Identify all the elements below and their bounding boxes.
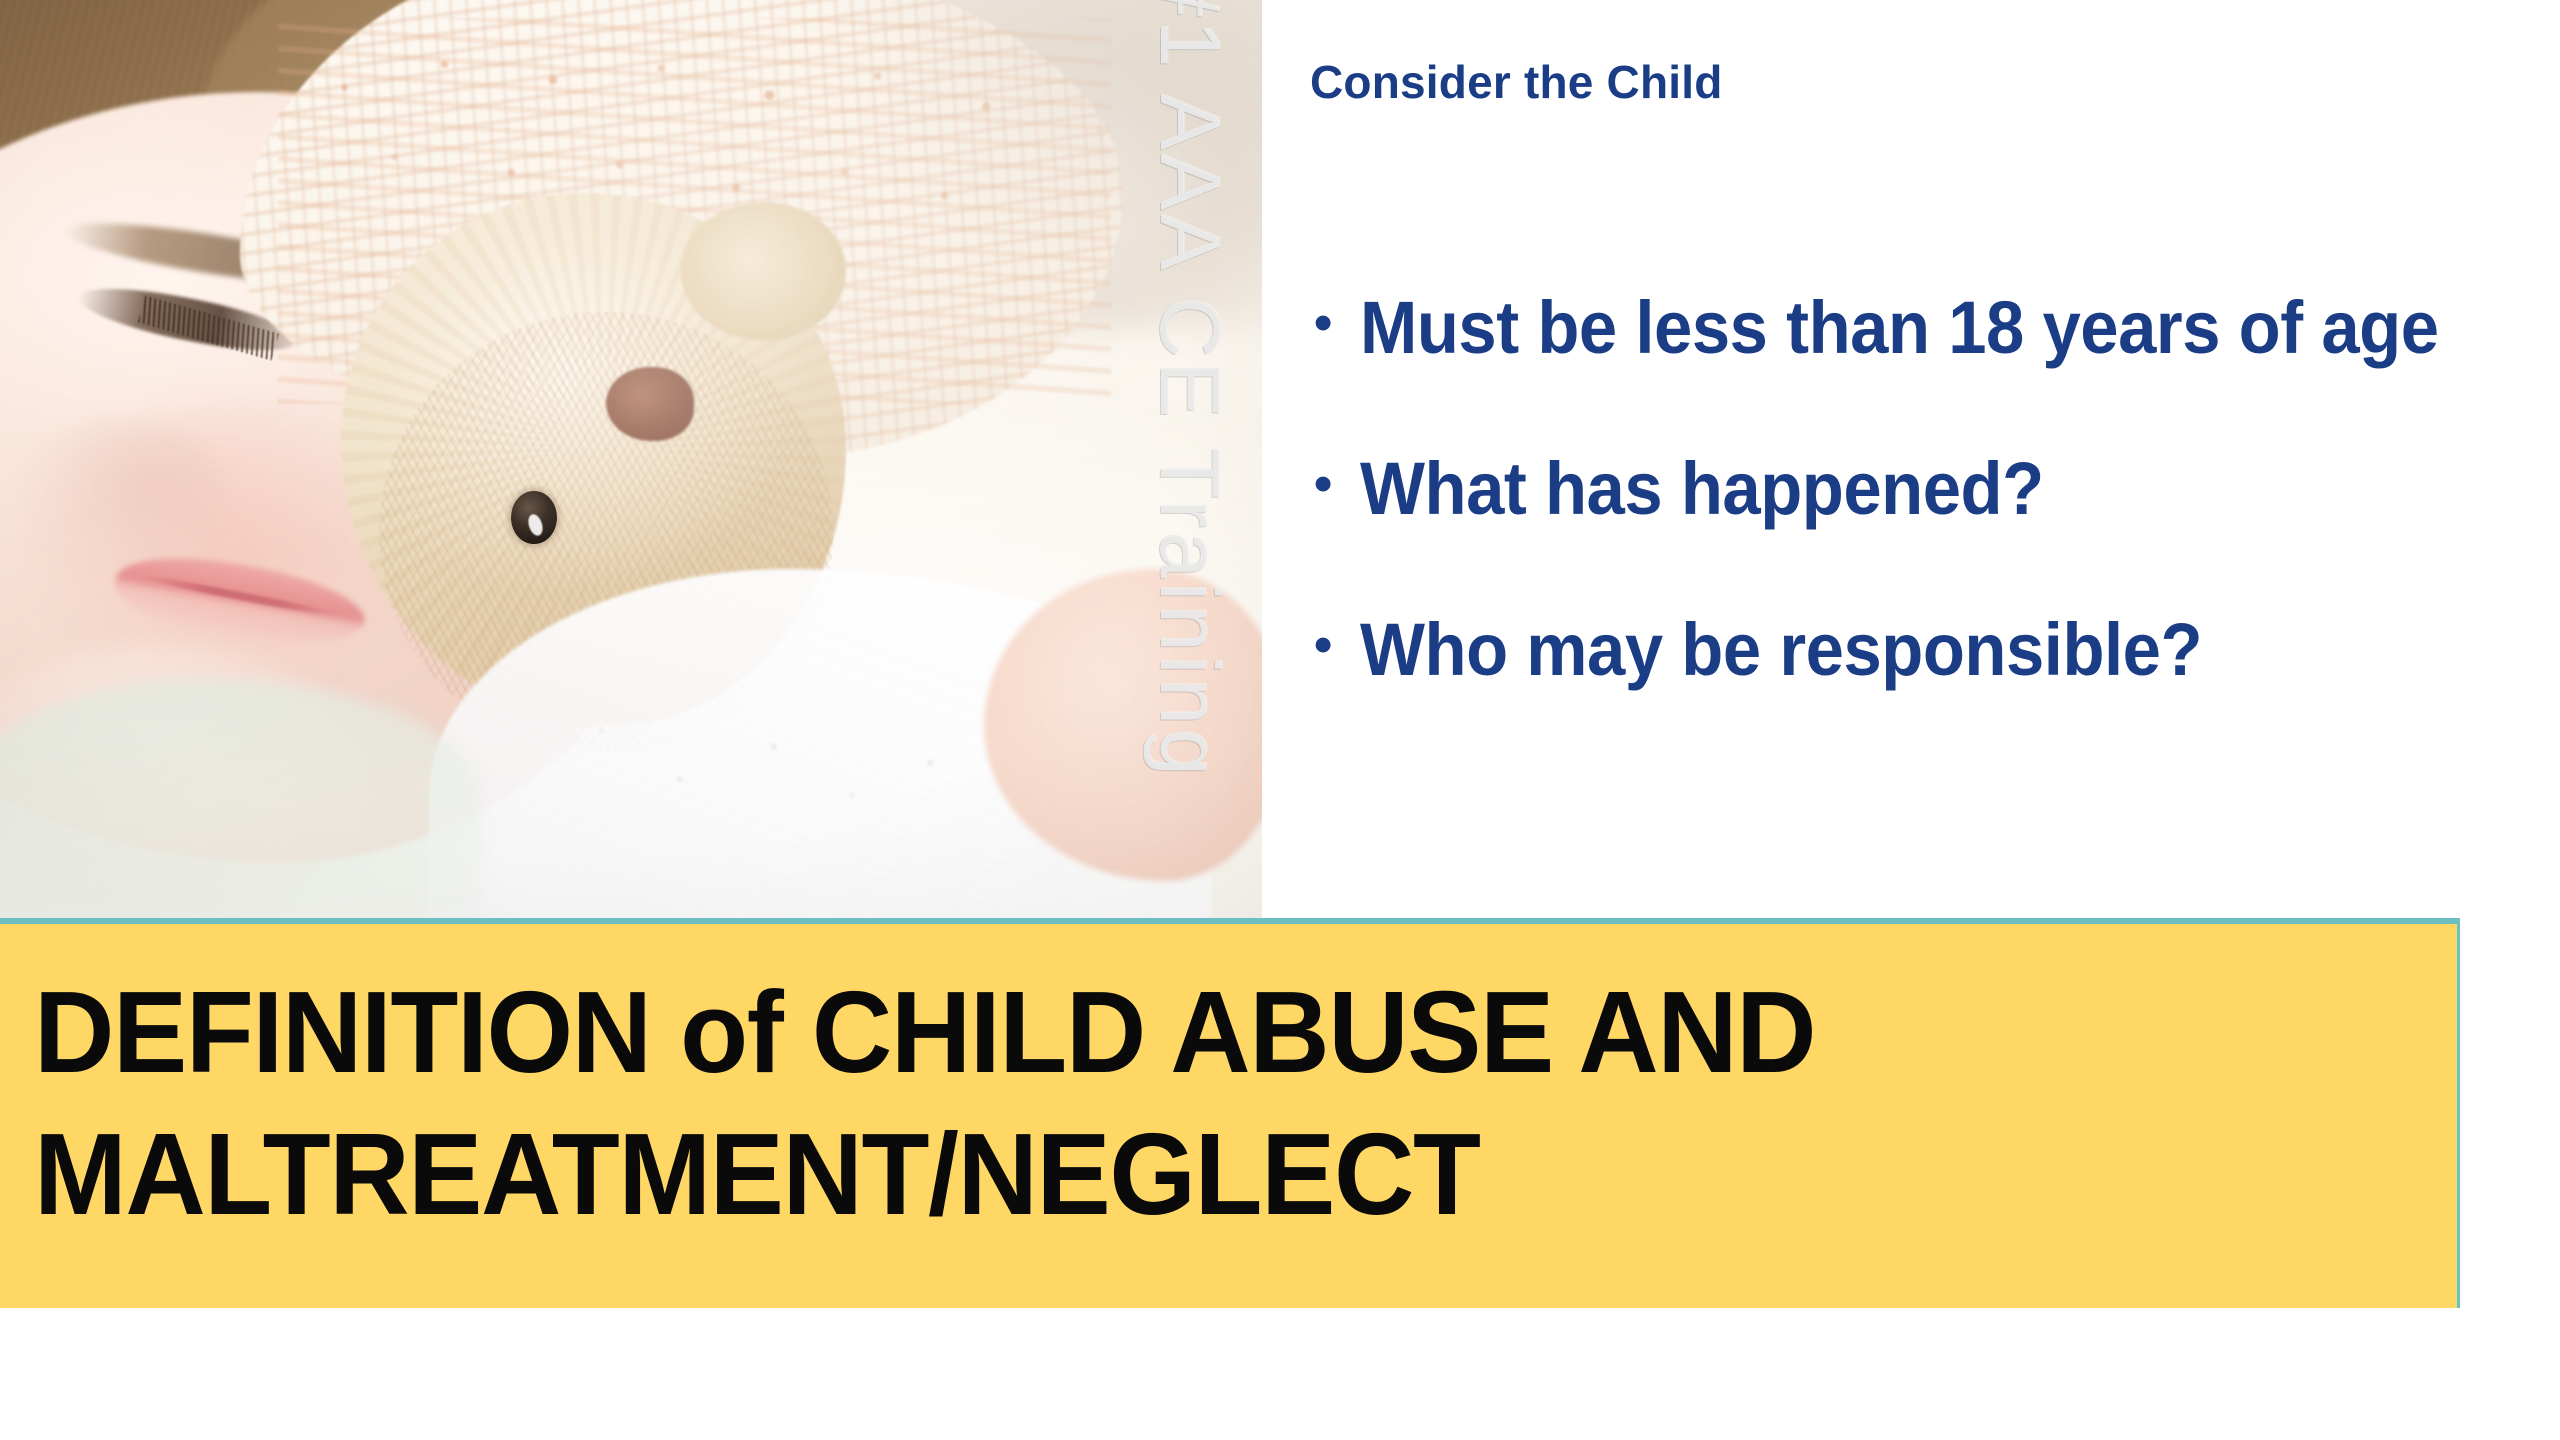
bullet-dot-icon: •	[1314, 290, 1360, 357]
section-title-line-2: MALTREATMENT/NEGLECT	[34, 1104, 2341, 1246]
section-title-banner: DEFINITION of CHILD ABUSE AND MALTREATME…	[0, 924, 2460, 1308]
bullet-item-what-happened: • What has happened?	[1314, 451, 2542, 528]
section-title: DEFINITION of CHILD ABUSE AND MALTREATME…	[34, 962, 2437, 1245]
bullet-dot-icon: •	[1314, 612, 1360, 679]
bullet-text-what-happened: What has happened?	[1360, 451, 2459, 528]
bullet-item-age: • Must be less than 18 years of age	[1314, 290, 2542, 367]
bullet-dot-icon: •	[1314, 451, 1360, 518]
teddy-bear-nose	[606, 367, 694, 440]
slide-heading: Consider the Child	[1310, 58, 1723, 108]
child-photo: #1 AAA CE Training	[0, 0, 1262, 918]
presentation-slide: #1 AAA CE Training Consider the Child • …	[0, 0, 2560, 1440]
bullet-list: • Must be less than 18 years of age • Wh…	[1314, 290, 2542, 689]
bullet-item-who-responsible: • Who may be responsible?	[1314, 612, 2542, 689]
bottom-margin	[0, 1308, 2560, 1440]
bullet-text-who-responsible: Who may be responsible?	[1360, 612, 2459, 689]
section-title-line-1: DEFINITION of CHILD ABUSE AND	[34, 962, 2341, 1104]
slide-content-panel: Consider the Child • Must be less than 1…	[1262, 0, 2560, 918]
teddy-bear-ear	[681, 202, 845, 340]
bullet-text-age: Must be less than 18 years of age	[1360, 290, 2459, 367]
